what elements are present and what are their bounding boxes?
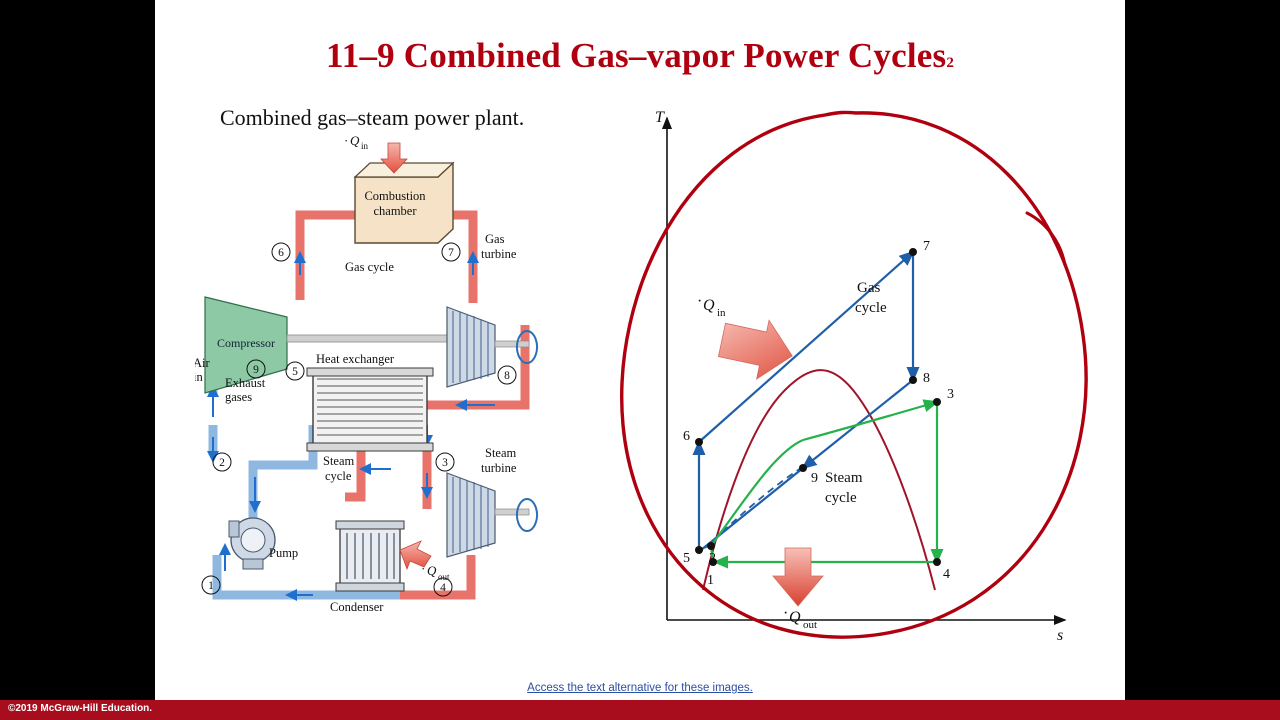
svg-text:5: 5 bbox=[683, 551, 690, 566]
svg-text:·: · bbox=[697, 293, 702, 310]
footer-bar bbox=[0, 700, 1280, 720]
q-in-arrow-ts: Q · in bbox=[697, 293, 798, 385]
svg-text:Pump: Pump bbox=[269, 546, 298, 560]
svg-text:9: 9 bbox=[253, 364, 259, 376]
svg-text:5: 5 bbox=[292, 366, 298, 378]
svg-text:Compressor: Compressor bbox=[217, 336, 275, 350]
svg-text:7: 7 bbox=[923, 239, 930, 254]
svg-text:Air: Air bbox=[195, 356, 211, 370]
svg-text:out: out bbox=[803, 619, 817, 631]
svg-text:Gas cycle: Gas cycle bbox=[345, 260, 394, 274]
pump-shape bbox=[229, 518, 275, 569]
text-alternative-link[interactable]: Access the text alternative for these im… bbox=[155, 682, 1125, 694]
svg-text:out: out bbox=[438, 572, 450, 582]
svg-text:1: 1 bbox=[707, 573, 714, 588]
svg-text:in: in bbox=[717, 307, 726, 319]
svg-text:s: s bbox=[1057, 627, 1063, 644]
svg-text:1: 1 bbox=[208, 580, 214, 592]
svg-text:·: · bbox=[783, 605, 788, 622]
heat-exchanger-shape bbox=[307, 368, 433, 451]
svg-text:Heat exchanger: Heat exchanger bbox=[316, 352, 395, 366]
page-title-text: 11–9 Combined Gas–vapor Power Cycles bbox=[326, 36, 946, 75]
svg-text:in: in bbox=[361, 141, 369, 151]
page-title-superscript: 2 bbox=[946, 55, 954, 71]
svg-text:gases: gases bbox=[225, 390, 252, 404]
condenser-shape bbox=[336, 521, 404, 591]
combustion-chamber-box: Combustion chamber bbox=[355, 163, 453, 243]
slide-canvas: 11–9 Combined Gas–vapor Power Cycles2 Co… bbox=[155, 0, 1125, 720]
steam-turbine-shape bbox=[447, 473, 537, 557]
svg-text:cycle: cycle bbox=[325, 469, 352, 483]
svg-text:8: 8 bbox=[923, 371, 930, 386]
svg-text:9: 9 bbox=[811, 471, 818, 486]
svg-text:3: 3 bbox=[947, 387, 954, 402]
svg-text:Steam: Steam bbox=[323, 454, 355, 468]
svg-text:6: 6 bbox=[683, 429, 690, 444]
svg-text:4: 4 bbox=[943, 567, 950, 582]
slide-root: 11–9 Combined Gas–vapor Power Cycles2 Co… bbox=[0, 0, 1280, 720]
svg-text:Condenser: Condenser bbox=[330, 600, 384, 614]
svg-text:Q: Q bbox=[427, 563, 437, 578]
svg-text:7: 7 bbox=[448, 247, 454, 259]
svg-text:Exhaust: Exhaust bbox=[225, 376, 266, 390]
page-title: 11–9 Combined Gas–vapor Power Cycles2 bbox=[155, 36, 1125, 76]
svg-text:cycle: cycle bbox=[855, 300, 887, 316]
svg-text:3: 3 bbox=[442, 457, 448, 469]
svg-text:Q: Q bbox=[350, 133, 360, 148]
q-out-arrow-schematic: Q · out bbox=[400, 541, 450, 582]
svg-text:·: · bbox=[421, 561, 425, 576]
svg-text:Q: Q bbox=[703, 297, 715, 314]
svg-text:2: 2 bbox=[219, 457, 225, 469]
plant-diagram: Combustion chamber Q · in Compressor bbox=[195, 125, 665, 645]
q-out-arrow-ts: Q · out bbox=[773, 548, 823, 631]
svg-text:turbine: turbine bbox=[481, 461, 517, 475]
svg-text:Q: Q bbox=[789, 609, 801, 626]
svg-text:cycle: cycle bbox=[825, 490, 857, 506]
svg-text:8: 8 bbox=[504, 370, 510, 382]
svg-text:4: 4 bbox=[440, 582, 446, 594]
svg-text:in: in bbox=[195, 370, 203, 384]
svg-text:Combustion: Combustion bbox=[364, 189, 426, 203]
svg-text:6: 6 bbox=[278, 247, 284, 259]
gas-cycle-label: Gas bbox=[857, 280, 880, 296]
svg-text:chamber: chamber bbox=[373, 204, 417, 218]
svg-text:·: · bbox=[344, 133, 348, 148]
svg-text:T: T bbox=[655, 109, 665, 126]
svg-text:Gas: Gas bbox=[485, 232, 505, 246]
copyright-text: ©2019 McGraw-Hill Education. bbox=[8, 703, 152, 714]
steam-cycle-label: Steam bbox=[825, 470, 863, 486]
ts-diagram: T s bbox=[625, 100, 1105, 660]
svg-text:Steam: Steam bbox=[485, 446, 517, 460]
svg-text:turbine: turbine bbox=[481, 247, 517, 261]
